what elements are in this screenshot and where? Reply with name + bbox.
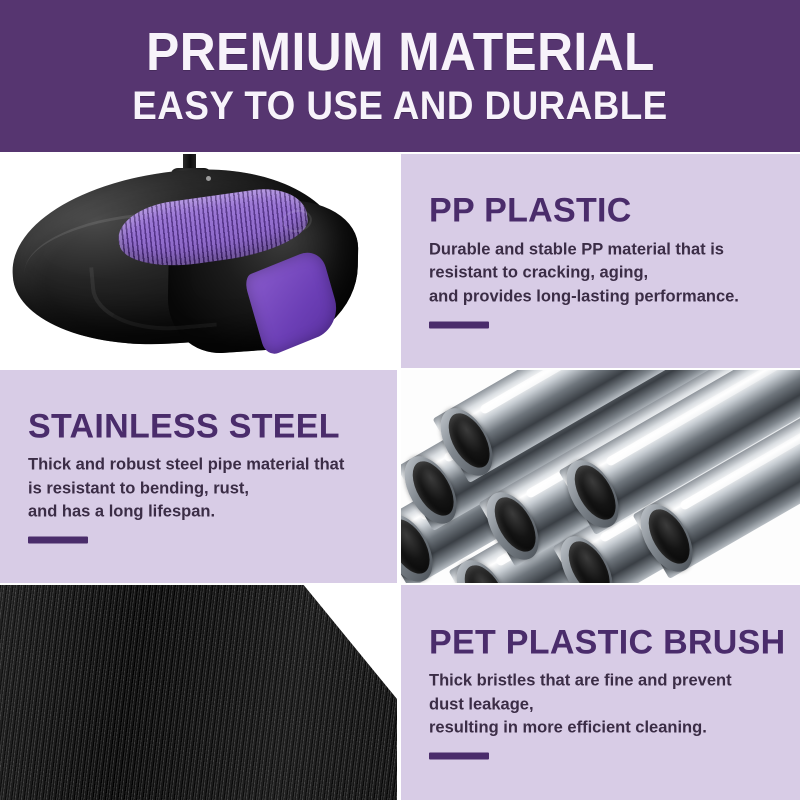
stainless-steel-heading: STAINLESS STEEL — [28, 409, 387, 445]
stainless-steel-body-line-2: is resistant to bending, rust, — [28, 477, 387, 500]
panel-bristles-photo — [0, 585, 397, 800]
pet-brush-heading: PET PLASTIC BRUSH — [429, 625, 790, 661]
brush-bristles-icon — [0, 585, 397, 800]
pet-brush-body-line-2: dust leakage, — [429, 693, 790, 716]
pet-brush-text-block: PET PLASTIC BRUSH Thick bristles that ar… — [429, 625, 790, 760]
infographic-sheet: PREMIUM MATERIAL EASY TO USE AND DURABLE… — [0, 0, 800, 800]
pp-plastic-heading: PP PLASTIC — [429, 194, 790, 230]
stainless-steel-body-line-1: Thick and robust steel pipe material tha… — [28, 454, 387, 477]
stainless-steel-accent-rule — [28, 537, 88, 544]
pp-plastic-body-line-3: and provides long-lasting performance. — [429, 285, 790, 308]
panel-stainless-steel: STAINLESS STEEL Thick and robust steel p… — [0, 370, 397, 583]
pp-plastic-accent-rule — [429, 321, 489, 328]
pet-brush-accent-rule — [429, 753, 489, 760]
bristles-illustration — [0, 585, 397, 800]
pp-plastic-body-line-2: resistant to cracking, aging, — [429, 262, 790, 285]
panel-pp-plastic: PP PLASTIC Durable and stable PP materia… — [401, 154, 800, 368]
header-banner: PREMIUM MATERIAL EASY TO USE AND DURABLE — [0, 0, 800, 152]
panel-pet-plastic-brush: PET PLASTIC BRUSH Thick bristles that ar… — [401, 585, 800, 800]
panel-steel-pipes-photo — [401, 370, 800, 583]
pet-brush-body-line-1: Thick bristles that are fine and prevent — [429, 670, 790, 693]
stainless-steel-text-block: STAINLESS STEEL Thick and robust steel p… — [28, 409, 387, 544]
header-title-line1: PREMIUM MATERIAL — [146, 25, 655, 79]
dustpan-highlight-icon — [206, 176, 211, 181]
pp-plastic-text-block: PP PLASTIC Durable and stable PP materia… — [429, 194, 790, 329]
panel-dustpan-photo — [0, 154, 397, 368]
stainless-steel-body-line-3: and has a long lifespan. — [28, 501, 387, 524]
steel-pipes-illustration — [401, 370, 800, 583]
header-title-line2: EASY TO USE AND DURABLE — [132, 85, 667, 127]
pet-brush-body-line-3: resulting in more efficient cleaning. — [429, 717, 790, 740]
dustpan-illustration — [0, 154, 397, 368]
pp-plastic-body-line-1: Durable and stable PP material that is — [429, 238, 790, 261]
